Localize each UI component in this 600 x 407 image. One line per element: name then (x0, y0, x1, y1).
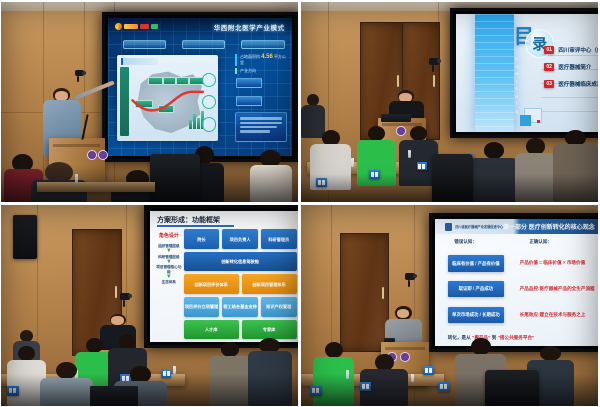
slide-header-org: 四川省医疗器械产业发展促进中心 (455, 224, 503, 229)
ring-indicators (203, 69, 215, 136)
panel-bottom-right: 四川省医疗器械产业发展促进中心 第一部分 医疗创新转化的核心观念 错误认知： 正… (301, 205, 598, 406)
framework-box: 项目评价立项管理 (184, 297, 220, 317)
framework-box: 创新转化信息驾驶舱 (184, 252, 297, 272)
framework-box: 专家库 (242, 320, 297, 340)
contents-item-label: 医疗器械临床成果转化 (558, 80, 598, 88)
wrong-box: 临床有价值 / 产品有价值 (448, 255, 504, 271)
framework-row: 人才库 专家库 (184, 320, 297, 340)
decor-dot (537, 120, 540, 123)
framework-label: 角色设计 (159, 232, 179, 239)
contents-item-label: 四川审评中心（创新） (558, 46, 598, 54)
framework-rows: 院长 项目负责人 科研管理员 创新转化信息驾驶舱 创新项目评价体系 创新项目管理… (184, 229, 297, 339)
org-logo-icon (445, 223, 453, 231)
presentation-screen: 方案形成：功能框架 角色设计 组织管理层级 ▼ 科研管理层级 ▼ 项目管理核心功… (144, 205, 298, 348)
framework-label: 生态体系 (162, 280, 176, 284)
contents-accent-band (475, 14, 513, 132)
framework-label: 项目管理核心功能 (155, 265, 182, 274)
slide-header-title: 第一部分 医疗创新转化的核心观念 (503, 222, 595, 231)
framework-box: 科研管理员 (261, 229, 297, 249)
slide-contents: 目 录 CONTENTS 01 四川审评中心（创新） 02 医疗器械简介 (456, 14, 599, 132)
framework-row: 创新项目评价体系 创新项目管理体系 (184, 274, 297, 294)
slide-tabs (123, 40, 285, 49)
contents-item: 03 医疗器械临床成果转化 (544, 80, 597, 88)
down-arrow-icon: ▼ (166, 275, 172, 279)
framework-box: 项目负责人 (222, 229, 258, 249)
ceiling-strip (1, 2, 298, 11)
ring-indicator (202, 73, 216, 87)
slide-logo (115, 23, 158, 30)
framework-left-labels: 角色设计 组织管理层级 ▼ 科研管理层级 ▼ 项目管理核心功能 ▼ 生态体系 (155, 232, 182, 337)
contents-item-label: 医疗器械简介 (558, 63, 591, 71)
slide-title: 华西附北医学产业模式 (214, 22, 285, 32)
slide-map-card (117, 55, 218, 141)
down-arrow-icon: ▼ (166, 260, 172, 264)
slide-button (236, 96, 262, 106)
presentation-screen: 华西附北医学产业模式 (102, 12, 298, 162)
podium-laptop (381, 114, 411, 122)
contents-heading-en: CONTENTS (515, 56, 519, 114)
water-bottle (408, 150, 411, 158)
stat-area: 占地面积约 4.56 平方公里 (235, 54, 287, 66)
podium-laptop (384, 338, 395, 342)
framework-box: 人才库 (184, 320, 239, 340)
wrong-column: 临床有价值 / 产品有价值 取证即 / 产品成功 单次市场成功 / 长期成功 (435, 251, 513, 328)
title-underline (157, 225, 234, 227)
slide-note (235, 112, 287, 142)
ring-indicator (202, 117, 216, 131)
logo-mark-icon (115, 23, 122, 30)
wrong-box: 取证即 / 产品成功 (448, 281, 504, 297)
wrong-box: 单次市场成功 / 长期成功 (448, 307, 504, 323)
presentation-screen: 四川省医疗器械产业发展促进中心 第一部分 医疗创新转化的核心观念 错误认知： 正… (429, 213, 598, 352)
contents-item: 01 四川审评中心（创新） (544, 46, 597, 54)
presentation-screen: 目 录 CONTENTS 01 四川审评中心（创新） 02 医疗器械简介 (450, 8, 599, 138)
framework-row: 创新转化信息驾驶舱 (184, 252, 297, 272)
name-placard (417, 162, 427, 170)
photo-collage: 华西附北医学产业模式 (0, 0, 600, 407)
slide-core-concepts: 四川省医疗器械产业发展促进中心 第一部分 医疗创新转化的核心观念 错误认知： 正… (435, 219, 598, 346)
section-label: 产业方向 (235, 68, 287, 74)
contents-item: 02 医疗器械简介 (544, 63, 597, 71)
slide-tab (182, 40, 225, 49)
room-door (340, 233, 390, 352)
framework-box: 院长 (184, 229, 220, 249)
framework-box: 知识产权管理 (261, 297, 297, 317)
slide-tab (123, 40, 166, 49)
ring-indicator (202, 95, 216, 109)
slide-tab (241, 40, 284, 49)
framework-box: 医工结合基金支持 (222, 297, 258, 317)
water-bottle (173, 366, 176, 374)
panel-bottom-left: 方案形成：功能框架 角色设计 组织管理层级 ▼ 科研管理层级 ▼ 项目管理核心功… (1, 205, 298, 406)
contents-item-number: 02 (544, 63, 555, 71)
framework-row: 项目评价立项管理 医工结合基金支持 知识产权管理 (184, 297, 297, 317)
right-text: 长尾效应:建立在技术与服务之上 (520, 312, 598, 319)
map-side-legend (120, 67, 129, 135)
right-column: 产品价值 = 临床价值 × 市场价值 产品品控:医疗器械产品的全生产流程 长尾效… (513, 251, 598, 328)
slide-title: 方案形成：功能框架 (157, 215, 220, 225)
slide-framework: 方案形成：功能框架 角色设计 组织管理层级 ▼ 科研管理层级 ▼ 项目管理核心功… (150, 211, 298, 342)
framework-row: 院长 项目负责人 科研管理员 (184, 229, 297, 249)
slide-right-column: 占地面积约 4.56 平方公里 产业方向 (235, 54, 287, 142)
right-text: 产品价值 = 临床价值 × 市场价值 (520, 260, 598, 267)
contents-item-list: 01 四川审评中心（创新） 02 医疗器械简介 03 医疗器械临床成果转化 (544, 46, 597, 88)
down-arrow-icon: ▼ (166, 249, 172, 253)
decor-square-solid (520, 115, 531, 126)
slide-industry-model: 华西附北医学产业模式 (108, 18, 292, 156)
column-header-wrong: 错误认知： (454, 239, 477, 245)
podium-emblem-icon (98, 150, 108, 160)
wall-speaker (13, 215, 37, 259)
slide-button (236, 78, 262, 88)
contents-item-number: 01 (544, 46, 555, 54)
panel-top-left: 华西附北医学产业模式 (1, 2, 298, 202)
contents-item-number: 03 (544, 80, 555, 88)
column-header-right: 正确认知： (529, 239, 552, 245)
slide-header: 四川省医疗器械产业发展促进中心 第一部分 医疗创新转化的核心观念 (435, 219, 598, 234)
framework-box: 创新项目管理体系 (242, 274, 297, 294)
panel-top-right: 目 录 CONTENTS 01 四川审评中心（创新） 02 医疗器械简介 (301, 2, 598, 202)
map-card-header (121, 58, 157, 65)
framework-box: 创新项目评价体系 (184, 274, 239, 294)
right-text: 产品品控:医疗器械产品的全生产流程 (520, 286, 598, 293)
